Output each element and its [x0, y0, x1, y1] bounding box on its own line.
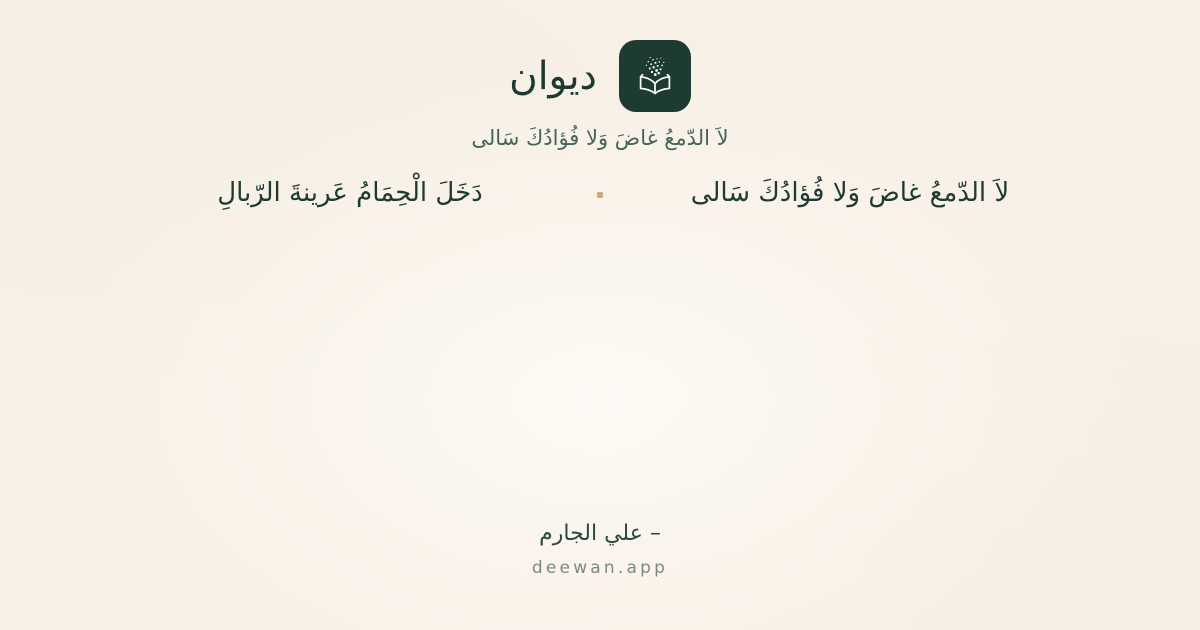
poem-subtitle: لاَ الدّمعُ غاضَ وَلا فُؤادُكَ سَالى [0, 123, 1200, 153]
poem-share-card: ديوان لاَ الدّمعُ غاضَ وَلا فُؤادُكَ سَا… [0, 0, 1200, 630]
verse-separator-dot [597, 192, 603, 198]
brand-name: ديوان [509, 57, 597, 96]
brand-header: ديوان [0, 40, 1200, 112]
app-logo [619, 40, 691, 112]
card-content: ديوان لاَ الدّمعُ غاضَ وَلا فُؤادُكَ سَا… [0, 0, 1200, 630]
verse-line: لاَ الدّمعُ غاضَ وَلا فُؤادُكَ سَالى دَخ… [0, 170, 1200, 216]
verse-first-hemistich: لاَ الدّمعُ غاضَ وَلا فُؤادُكَ سَالى [615, 171, 1085, 215]
open-book-sparkles-icon [632, 53, 678, 99]
verse-second-hemistich: دَخَلَ الْحِمَامُ عَرينةَ الرّبالِ [115, 171, 585, 215]
card-footer: – علي الجارم deewan.app [0, 518, 1200, 580]
poet-attribution: – علي الجارم [0, 518, 1200, 550]
site-url: deewan.app [0, 556, 1200, 580]
